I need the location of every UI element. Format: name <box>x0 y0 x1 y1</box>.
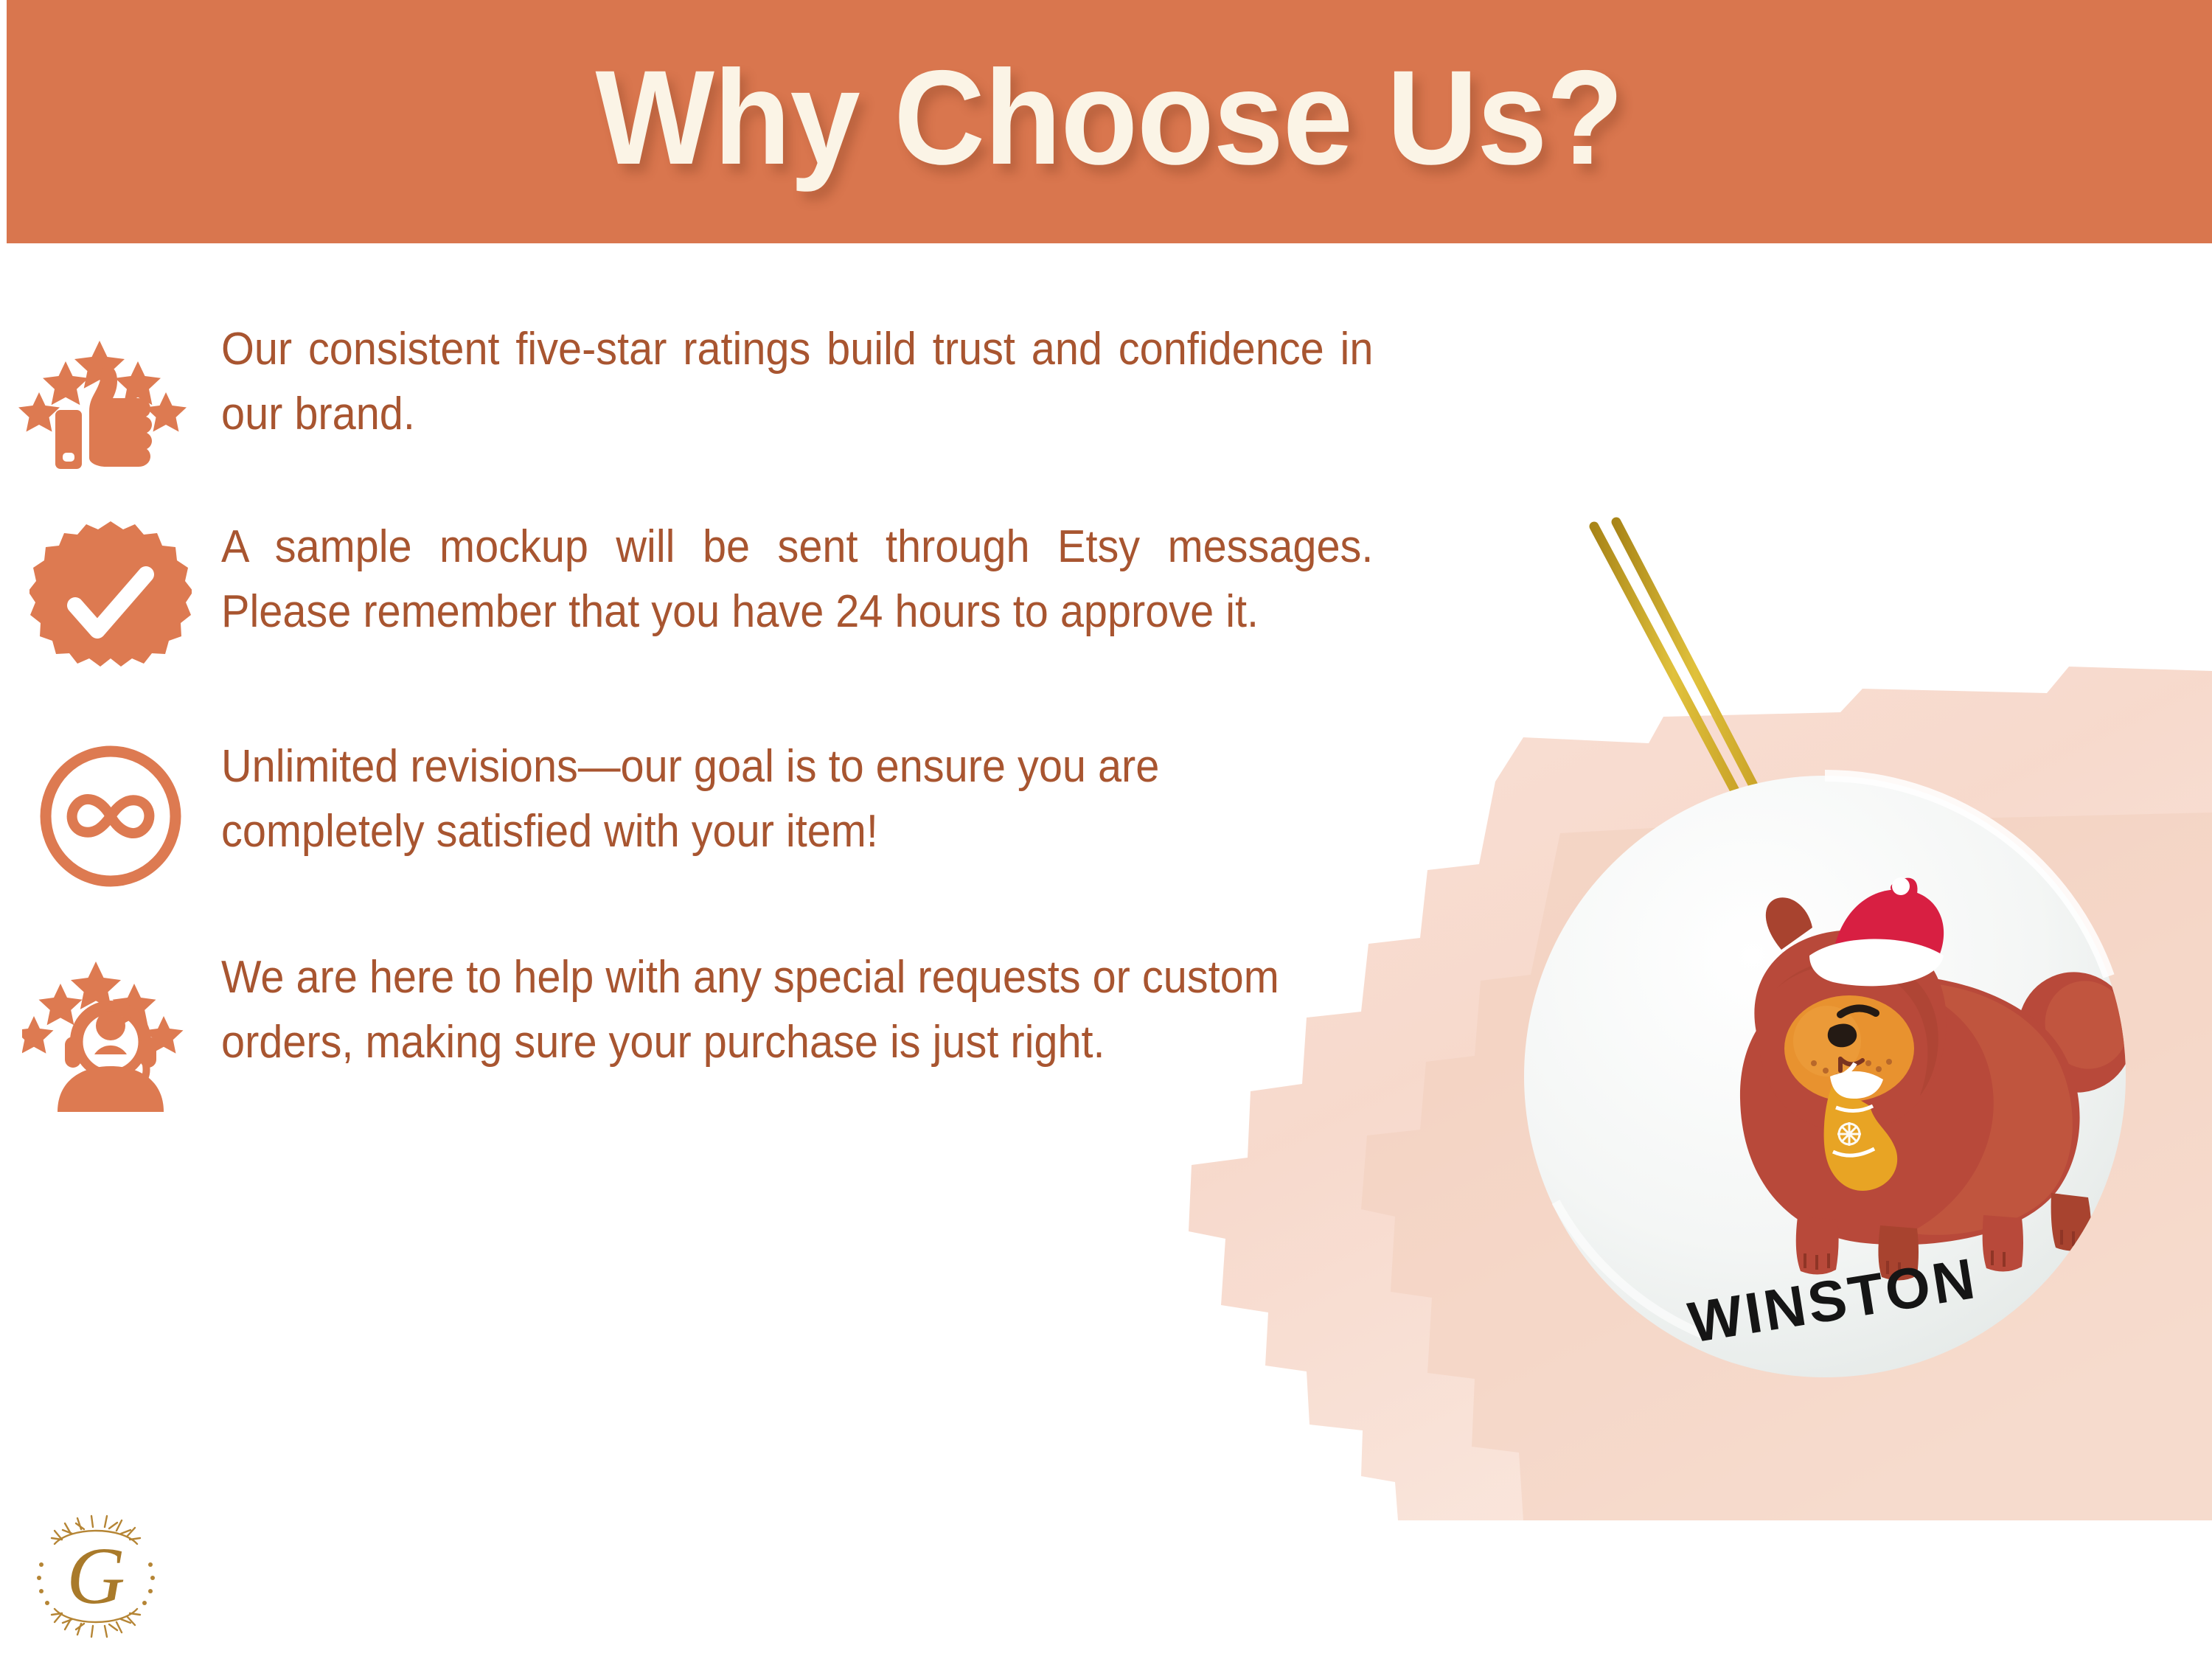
feature-item: Unlimited revisions—our goal is to ensur… <box>0 734 1489 894</box>
product-ornament-image: WINSTON <box>1423 516 2212 1519</box>
infinity-circle-icon <box>0 734 221 894</box>
feature-text: We are here to help with any special req… <box>221 945 1401 1075</box>
feature-item: A sample mockup will be sent through Ets… <box>0 515 1489 689</box>
feature-item: Our consistent five-star ratings build t… <box>0 317 1489 476</box>
why-choose-us-slide: Why Choose Us? <box>0 0 2212 1659</box>
header-banner: Why Choose Us? <box>7 0 2212 243</box>
customer-support-agent-stars-icon <box>0 945 221 1112</box>
five-star-thumbs-up-icon <box>0 317 221 476</box>
feature-list: Our consistent five-star ratings build t… <box>0 265 1489 1137</box>
logo-monogram: G <box>66 1531 125 1621</box>
verified-badge-check-icon <box>0 515 221 689</box>
feature-text: A sample mockup will be sent through Ets… <box>221 515 1401 644</box>
page-title: Why Choose Us? <box>596 50 1624 184</box>
feature-text: Our consistent five-star ratings build t… <box>221 317 1401 447</box>
feature-text: Unlimited revisions—our goal is to ensur… <box>221 734 1401 864</box>
feature-item: We are here to help with any special req… <box>0 945 1489 1112</box>
brand-logo: G <box>29 1510 162 1643</box>
